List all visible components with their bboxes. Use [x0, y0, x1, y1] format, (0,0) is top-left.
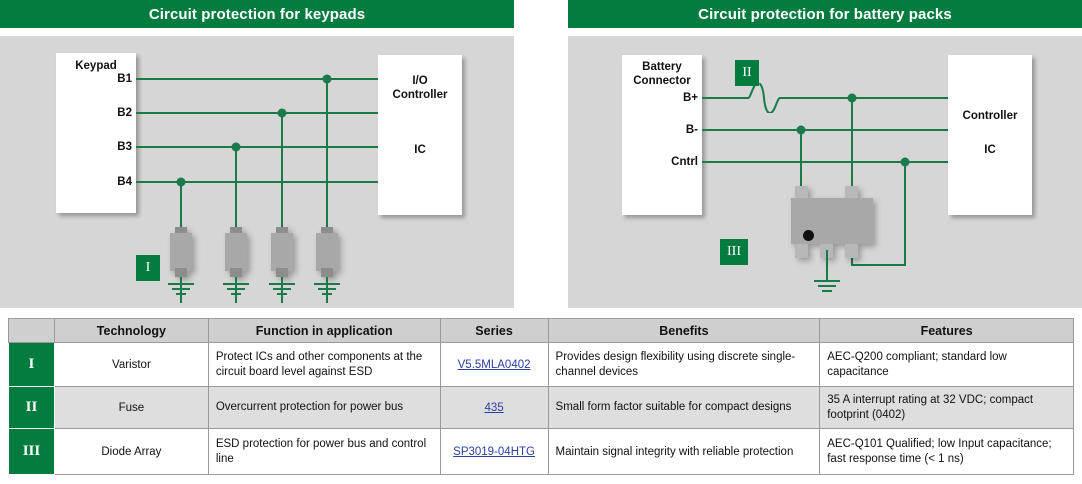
row-series[interactable]: SP3019-04HTG — [440, 429, 548, 475]
varistor-body — [225, 233, 247, 271]
badge-fuse: II — [735, 60, 759, 86]
row-numeral: I — [9, 343, 55, 387]
battery-connector-title-line2: Connector — [622, 74, 702, 88]
table-header-row: Technology Function in application Serie… — [9, 319, 1074, 343]
junction-b2 — [278, 109, 287, 118]
page-root: Circuit protection for keypads Keypad B1… — [0, 0, 1082, 484]
diode-pin-bot-1 — [795, 244, 808, 258]
wire-b1 — [136, 78, 378, 80]
pin-label-bplus: B+ — [683, 91, 698, 105]
diagram-keypads: Keypad B1 B2 B3 B4 I/O Controller IC — [0, 36, 514, 308]
row-series[interactable]: 435 — [440, 387, 548, 429]
row-features: AEC-Q101 Qualified; low Input capacitanc… — [820, 429, 1074, 475]
varistor-body — [271, 233, 293, 271]
varistor-2 — [225, 227, 247, 277]
drop-b3 — [235, 146, 237, 227]
drop-cntrl — [904, 161, 906, 266]
pin-label-b2: B2 — [117, 106, 132, 120]
controller-line2: IC — [948, 143, 1032, 157]
varistor-1 — [170, 227, 192, 277]
wire-cntrl-return — [851, 264, 906, 266]
diode-pin-bot-3 — [845, 244, 858, 258]
column-header-benefits: Benefits — [548, 319, 820, 343]
varistor-body — [316, 233, 338, 271]
junction-b3 — [232, 143, 241, 152]
varistor-3 — [271, 227, 293, 277]
drop-bplus — [851, 97, 853, 200]
wire-bplus-left — [702, 97, 748, 99]
ground-symbol-4 — [314, 283, 340, 298]
row-technology: Fuse — [54, 387, 208, 429]
junction-bminus — [797, 126, 806, 135]
row-numeral: II — [9, 387, 55, 429]
row-technology: Varistor — [54, 343, 208, 387]
table-row: II Fuse Overcurrent protection for power… — [9, 387, 1074, 429]
gnd-stub-diode — [826, 250, 828, 280]
junction-cntrl — [901, 158, 910, 167]
wire-cntrl — [702, 161, 948, 163]
panel-title-keypads: Circuit protection for keypads — [0, 0, 514, 28]
row-benefits: Maintain signal integrity with reliable … — [548, 429, 820, 475]
badge-diode-array: III — [720, 239, 748, 265]
series-link[interactable]: 435 — [484, 402, 503, 414]
varistor-cap-bottom — [230, 268, 242, 277]
varistor-body — [170, 233, 192, 271]
pin-label-b1: B1 — [117, 72, 132, 86]
pin-label-b3: B3 — [117, 140, 132, 154]
junction-bplus — [848, 94, 857, 103]
badge-varistor: I — [136, 255, 160, 281]
wire-bminus — [702, 129, 948, 131]
junction-b4 — [177, 178, 186, 187]
diode-array-package — [791, 186, 873, 258]
row-technology: Diode Array — [54, 429, 208, 475]
row-series[interactable]: V5.5MLA0402 — [440, 343, 548, 387]
diagram-battery-packs: Battery Connector B+ B- Cntrl Controller… — [568, 36, 1082, 308]
controller-box: Controller IC — [948, 55, 1032, 215]
column-header-numeral — [9, 319, 55, 343]
varistor-cap-bottom — [175, 268, 187, 277]
row-benefits: Provides design flexibility using discre… — [548, 343, 820, 387]
column-header-function: Function in application — [208, 319, 440, 343]
wire-b3 — [136, 146, 378, 148]
table-row: I Varistor Protect ICs and other compone… — [9, 343, 1074, 387]
battery-connector-title-line1: Battery — [622, 60, 702, 74]
io-controller-line2: Controller — [378, 88, 462, 102]
varistor-4 — [316, 227, 338, 277]
column-header-technology: Technology — [54, 319, 208, 343]
battery-connector-box: Battery Connector B+ B- Cntrl — [622, 55, 702, 215]
pin-label-bminus: B- — [686, 123, 698, 137]
drop-b4 — [180, 181, 182, 227]
controller-line1: Controller — [948, 109, 1032, 123]
row-features: AEC-Q200 compliant; standard low capacit… — [820, 343, 1074, 387]
wire-bplus-right — [779, 97, 948, 99]
io-controller-line1: I/O — [378, 74, 462, 88]
ground-symbol-2 — [223, 283, 249, 298]
junction-b1 — [323, 75, 332, 84]
column-header-series: Series — [440, 319, 548, 343]
column-header-features: Features — [820, 319, 1074, 343]
pin-label-cntrl: Cntrl — [671, 155, 698, 169]
ground-symbol-diode — [814, 280, 840, 295]
row-function: Overcurrent protection for power bus — [208, 387, 440, 429]
row-function: ESD protection for power bus and control… — [208, 429, 440, 475]
row-numeral: III — [9, 429, 55, 475]
series-link[interactable]: V5.5MLA0402 — [458, 359, 531, 371]
varistor-cap-bottom — [321, 268, 333, 277]
drop-b2 — [281, 112, 283, 227]
panel-title-battery-packs: Circuit protection for battery packs — [568, 0, 1082, 28]
fuse-symbol — [748, 83, 780, 113]
row-features: 35 A interrupt rating at 32 VDC; compact… — [820, 387, 1074, 429]
diode-pin1-marker-icon — [803, 230, 814, 241]
ground-symbol-1 — [168, 283, 194, 298]
io-controller-line3: IC — [378, 143, 462, 157]
protection-summary-table: Technology Function in application Serie… — [8, 318, 1074, 475]
row-function: Protect ICs and other components at the … — [208, 343, 440, 387]
wire-b4 — [136, 181, 378, 183]
io-controller-box: I/O Controller IC — [378, 55, 462, 215]
series-link[interactable]: SP3019-04HTG — [453, 446, 535, 458]
ground-symbol-3 — [269, 283, 295, 298]
keypad-box: Keypad B1 B2 B3 B4 — [56, 53, 136, 213]
varistor-cap-bottom — [276, 268, 288, 277]
pin-label-b4: B4 — [117, 175, 132, 189]
table-row: III Diode Array ESD protection for power… — [9, 429, 1074, 475]
row-benefits: Small form factor suitable for compact d… — [548, 387, 820, 429]
wire-b2 — [136, 112, 378, 114]
drop-b1 — [326, 78, 328, 227]
